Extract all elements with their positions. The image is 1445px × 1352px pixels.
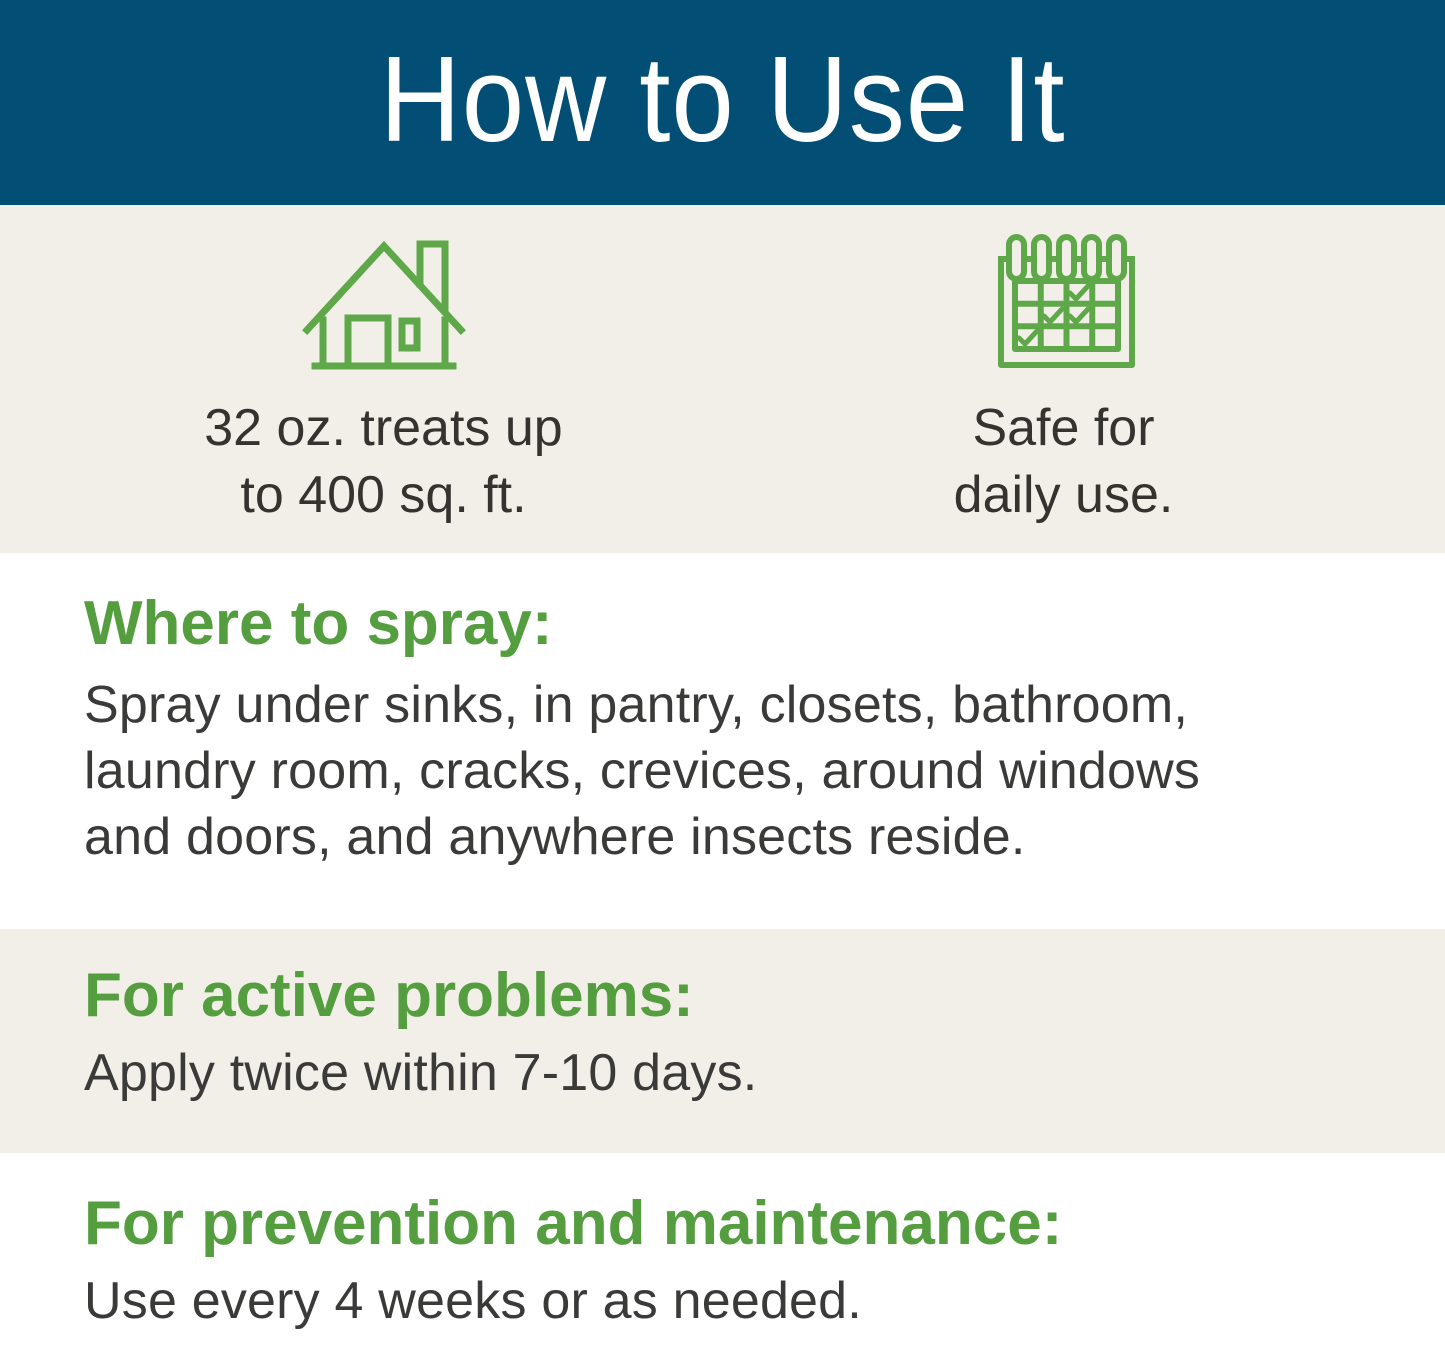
feature-band: 32 oz. treats up to 400 sq. ft. (0, 205, 1445, 553)
feature-coverage: 32 oz. treats up to 400 sq. ft. (174, 227, 594, 528)
section-where-to-spray: Where to spray: Spray under sinks, in pa… (0, 553, 1445, 929)
house-icon (301, 227, 467, 377)
header-band: How to Use It (0, 0, 1445, 205)
how-to-use-it-infographic: How to Use It (0, 0, 1445, 1352)
section-active-problems-body: Apply twice within 7-10 days. (84, 1040, 1361, 1106)
section-prevention-maintenance-heading: For prevention and maintenance: (84, 1191, 1361, 1258)
page-title: How to Use It (380, 38, 1066, 168)
feature-safety-label: Safe for daily use. (954, 395, 1174, 528)
section-prevention-maintenance-body: Use every 4 weeks or as needed. (84, 1268, 1361, 1334)
section-where-to-spray-heading: Where to spray: (84, 591, 1361, 658)
feature-coverage-label: 32 oz. treats up to 400 sq. ft. (204, 395, 562, 528)
section-where-to-spray-body: Spray under sinks, in pantry, closets, b… (84, 672, 1361, 870)
section-prevention-maintenance: For prevention and maintenance: Use ever… (0, 1153, 1445, 1352)
calendar-icon (989, 227, 1139, 377)
feature-safety: Safe for daily use. (854, 227, 1274, 528)
section-active-problems: For active problems: Apply twice within … (0, 929, 1445, 1153)
section-active-problems-heading: For active problems: (84, 963, 1361, 1030)
